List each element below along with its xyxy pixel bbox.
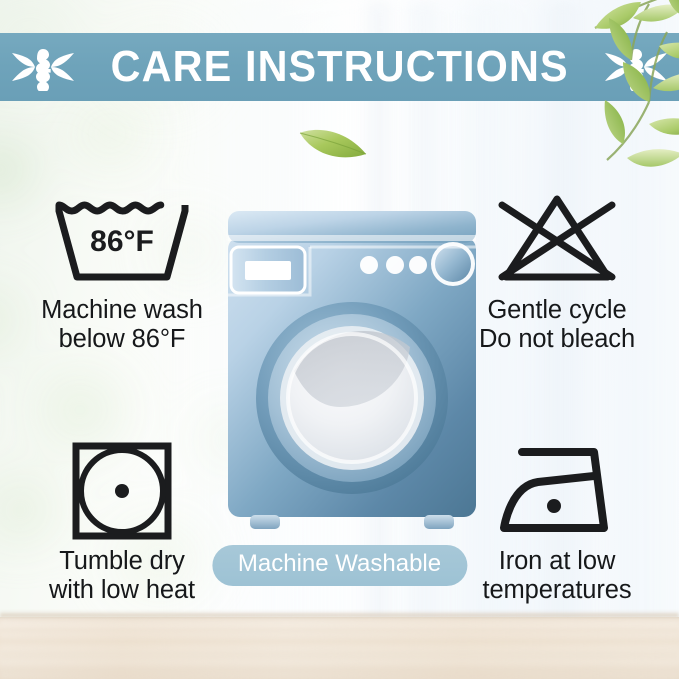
iron-low-icon bbox=[482, 443, 632, 539]
care-symbol-caption: Gentle cycle Do not bleach bbox=[479, 296, 635, 353]
washing-machine-illustration bbox=[228, 211, 476, 529]
wash-tub-icon: 86°F bbox=[47, 192, 197, 288]
fleur-de-lis-icon bbox=[12, 43, 74, 91]
care-symbol-tumble-dry: Tumble dry with low heat bbox=[2, 443, 242, 604]
care-instructions-infographic: CARE INSTRUCTIONS bbox=[0, 0, 679, 679]
leaf-branch-icon bbox=[499, 0, 679, 184]
care-symbol-caption: Iron at low temperatures bbox=[482, 547, 631, 604]
care-symbol-machine-wash: 86°F Machine wash below 86°F bbox=[2, 192, 242, 353]
tumble-dry-low-icon bbox=[47, 443, 197, 539]
care-symbol-caption: Tumble dry with low heat bbox=[49, 547, 195, 604]
leaf-icon bbox=[296, 120, 370, 166]
triangle-crossed-out-icon bbox=[482, 192, 632, 288]
status-badge: Machine Washable bbox=[212, 545, 467, 586]
wooden-table-grain bbox=[0, 617, 679, 679]
wash-temperature-value: 86°F bbox=[90, 225, 154, 258]
care-symbol-caption: Machine wash below 86°F bbox=[41, 296, 203, 353]
